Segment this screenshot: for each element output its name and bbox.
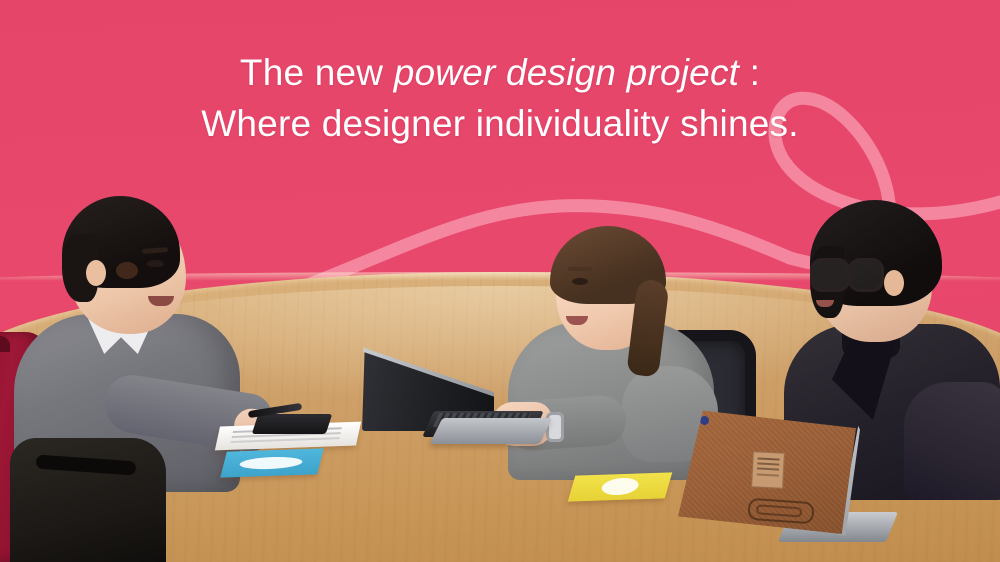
note-yellow <box>568 472 673 501</box>
ear <box>86 260 106 286</box>
eyebrow <box>568 267 592 271</box>
glasses-lens-left <box>810 258 850 292</box>
blazer-sleeve <box>904 382 1000 500</box>
eye <box>147 260 164 267</box>
page-root: The new power design project : Where des… <box>0 0 1000 562</box>
phone-black <box>252 414 332 434</box>
cheek-mark <box>116 262 138 279</box>
bag-left <box>10 438 166 562</box>
ear <box>884 270 904 296</box>
glasses-icon <box>810 258 884 288</box>
wristwatch <box>546 412 564 442</box>
tablet-center <box>430 418 553 444</box>
laptop-lid <box>678 408 856 534</box>
laptop-sticker <box>751 451 785 489</box>
eye <box>572 278 588 285</box>
laptop-right <box>664 408 904 562</box>
laptop-badge-dot <box>700 416 709 425</box>
bag-strap <box>36 455 137 476</box>
paperclip-icon <box>747 498 814 525</box>
card-cyan <box>220 448 323 477</box>
glasses-lens-right <box>848 258 884 292</box>
